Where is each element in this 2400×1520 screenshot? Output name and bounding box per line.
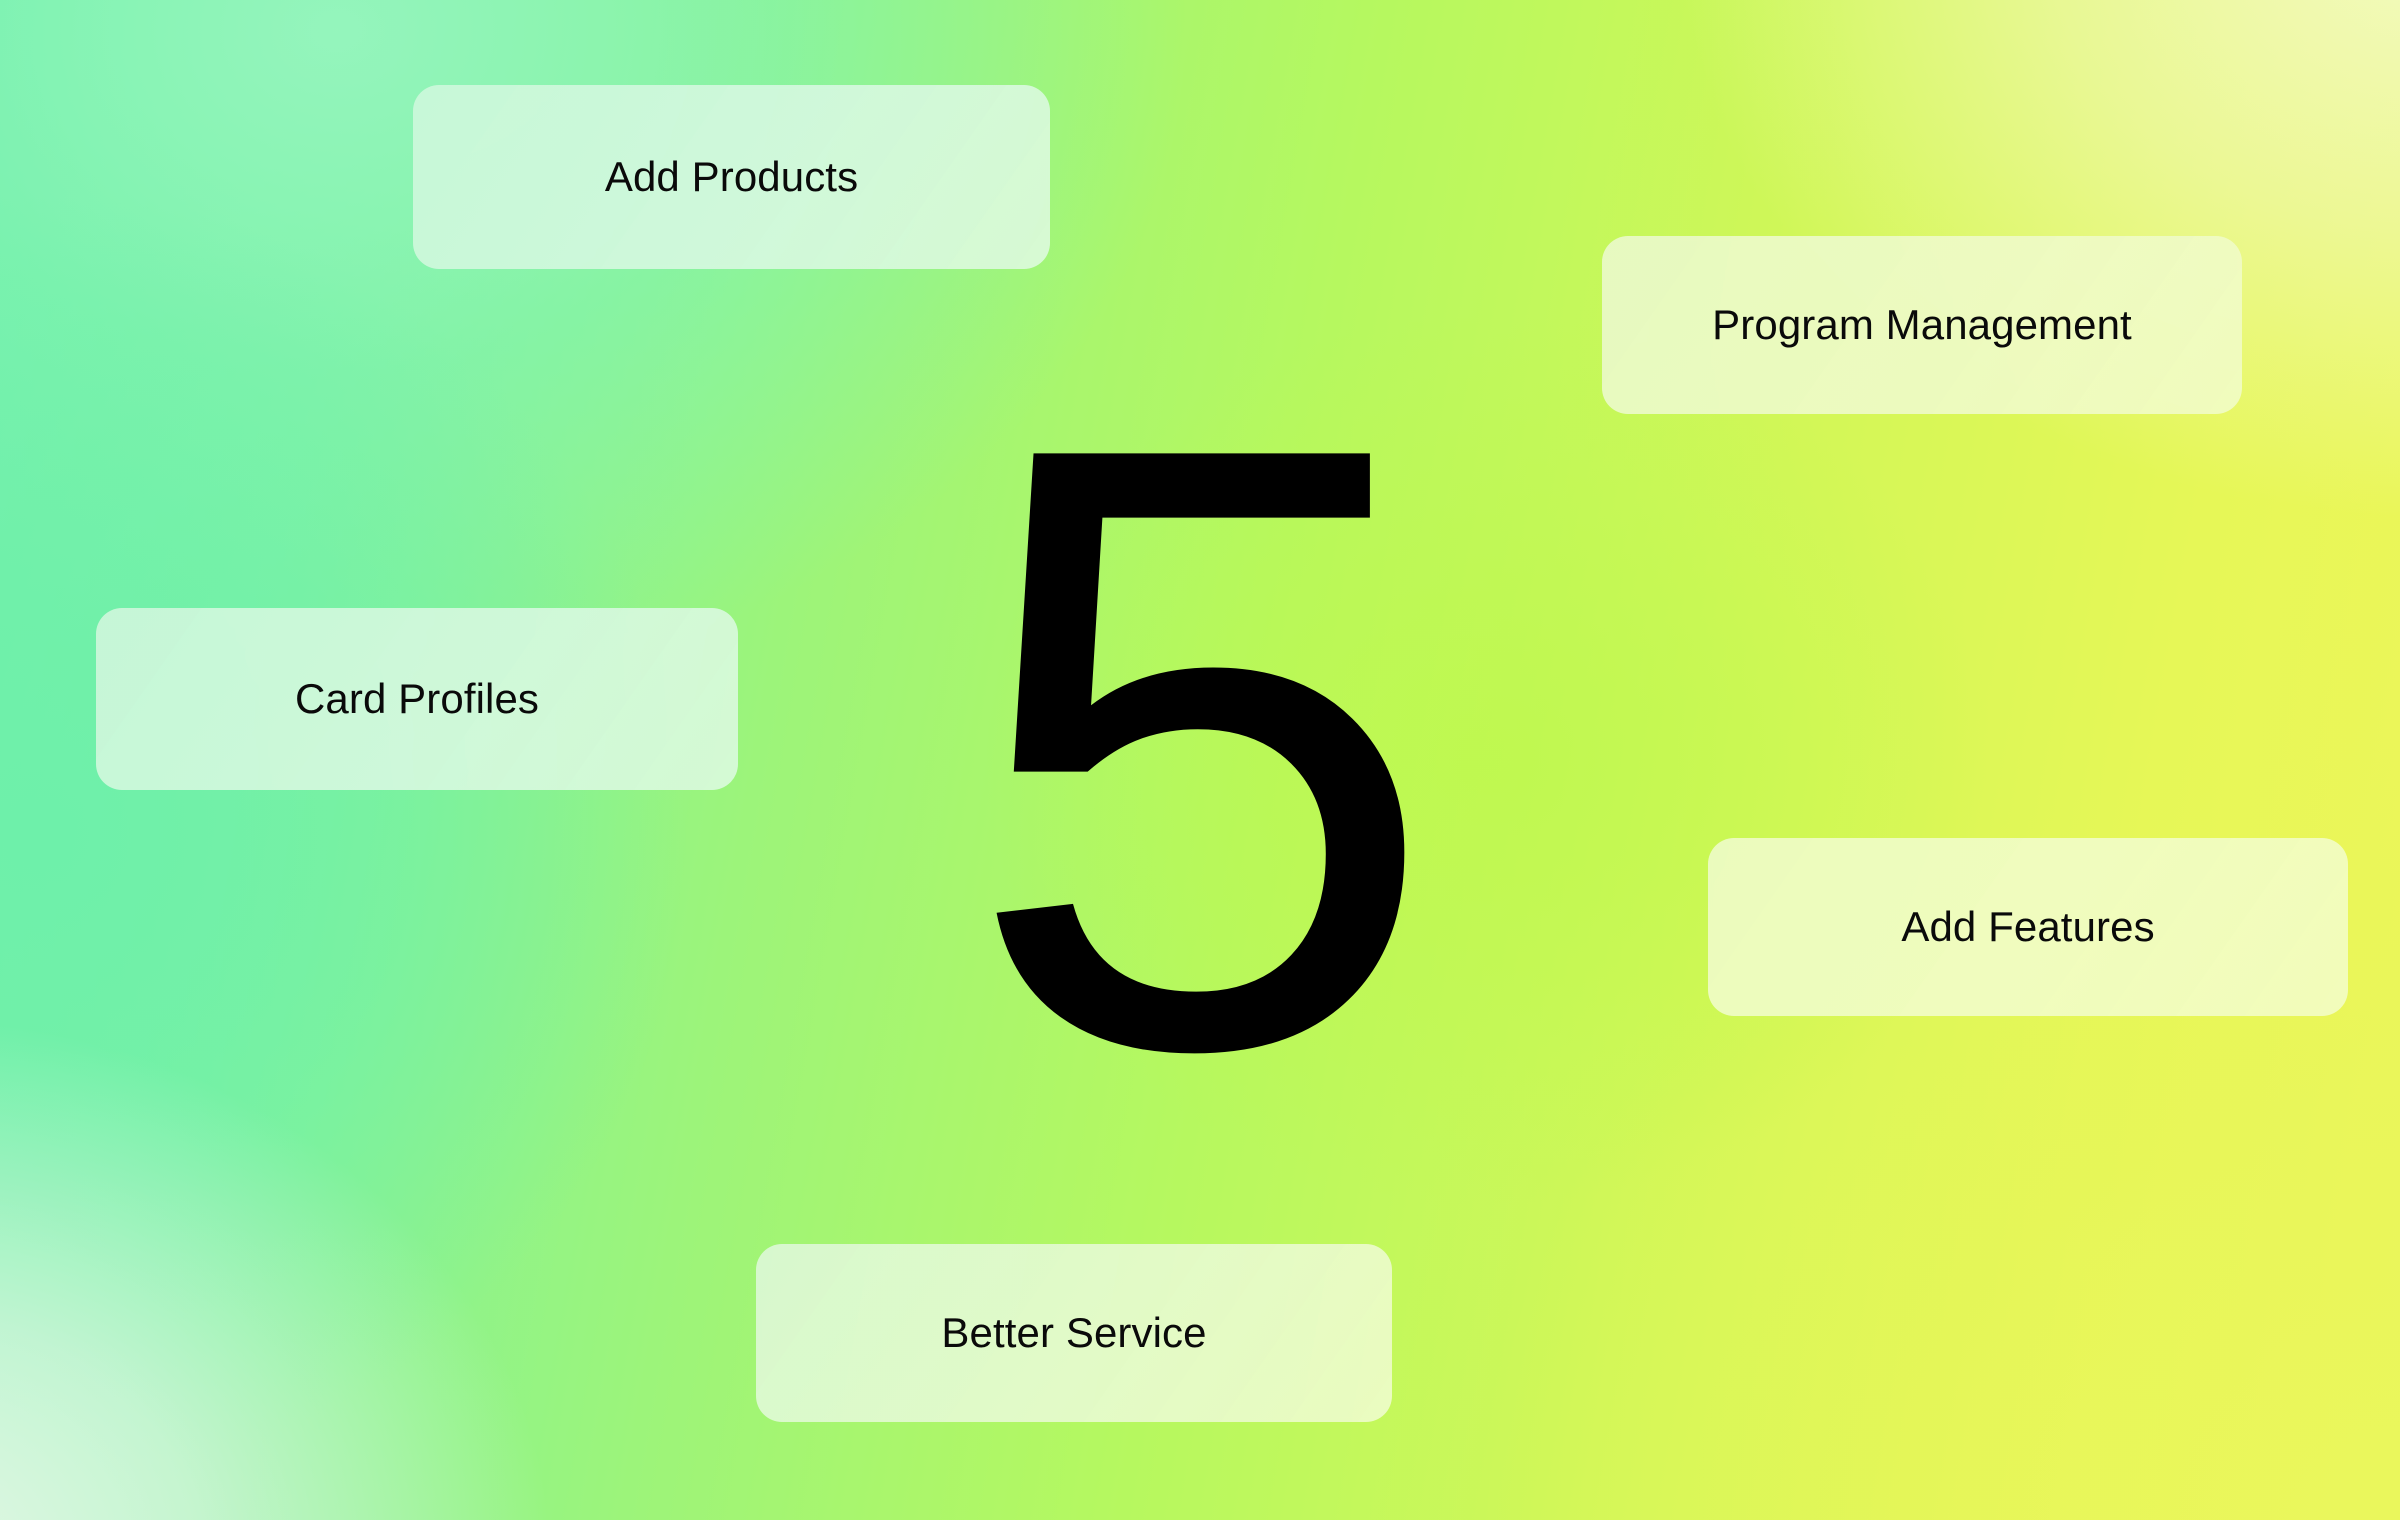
feature-card-better-service[interactable]: Better Service [756,1244,1392,1422]
feature-card-label: Better Service [941,1312,1206,1354]
feature-card-add-products[interactable]: Add Products [413,85,1050,269]
focal-numeral: 5 [962,413,1432,1084]
feature-card-label: Card Profiles [295,678,539,720]
feature-card-label: Add Products [605,156,858,198]
feature-card-program-management[interactable]: Program Management [1602,236,2242,414]
gradient-panel: 5 Add Products Program Management Card P… [0,0,2400,1520]
feature-card-label: Program Management [1712,304,2132,346]
feature-card-label: Add Features [1901,906,2154,948]
feature-card-add-features[interactable]: Add Features [1708,838,2348,1016]
feature-card-card-profiles[interactable]: Card Profiles [96,608,738,790]
